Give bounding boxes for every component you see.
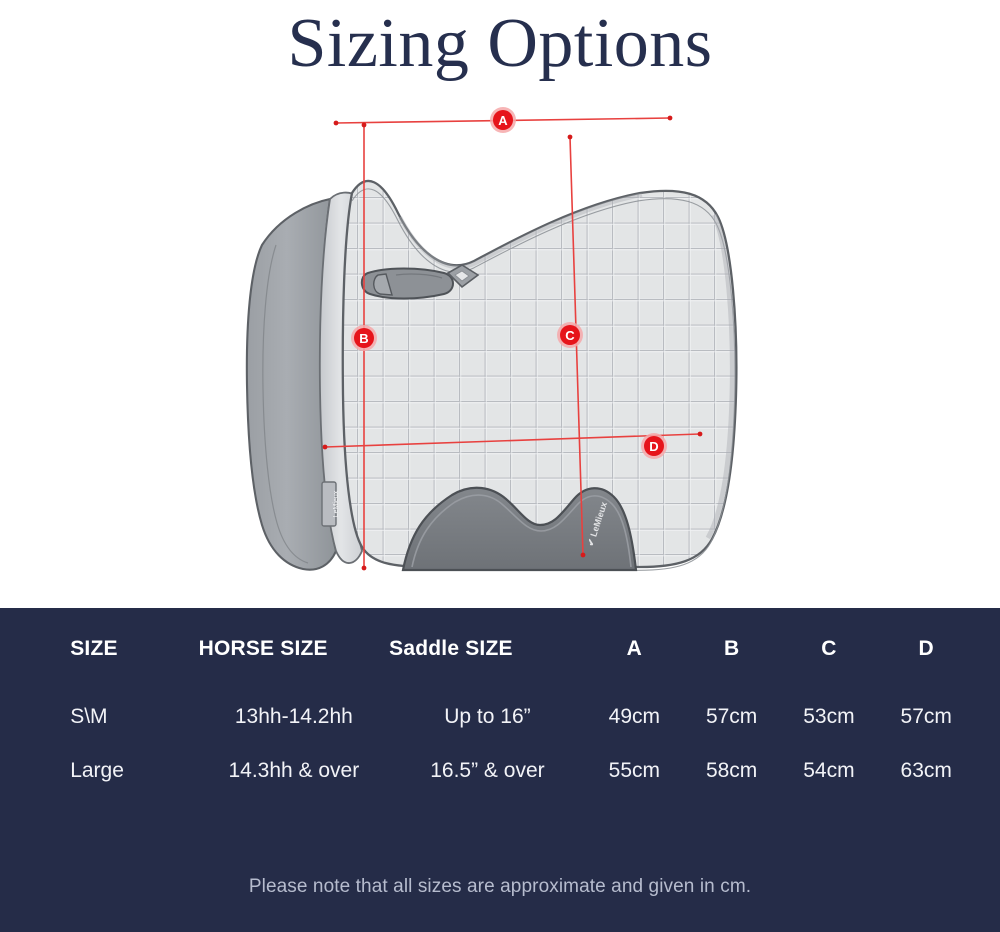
marker-label-a: A [498,113,508,128]
saddle-pad-illustration: LeMieux ✔ LeMieux ✔ LeMieux [0,95,1000,608]
sizing-footnote: Please note that all sizes are approxima… [0,876,1000,898]
spacer-cell-left [0,608,70,690]
sizing-table-head: SIZE HORSE SIZE Saddle SIZE A B C D [0,608,1000,690]
pad-body [343,181,737,570]
spacer-cell-left [0,690,70,744]
marker-label-c: C [565,328,575,343]
page-title: Sizing Options [0,0,1000,92]
spacer-cell-left [0,744,70,798]
cell-d: 57cm [878,690,975,744]
cell-c: 54cm [780,744,877,798]
cell-d: 63cm [878,744,975,798]
cell-b: 57cm [683,690,780,744]
cell-size: S\M [70,690,198,744]
column-header-horse-size: HORSE SIZE [199,608,390,690]
spacer-cell-right [975,690,1000,744]
table-row: Large 14.3hh & over 16.5” & over 55cm 58… [0,744,1000,798]
side-tab-brand-text: LeMieux [333,490,340,517]
column-header-c: C [780,608,877,690]
marker-label-b: B [359,331,368,346]
sizing-table-panel: SIZE HORSE SIZE Saddle SIZE A B C D S\M … [0,608,1000,932]
marker-badge-b: B [351,325,377,351]
cell-a: 49cm [586,690,683,744]
column-header-d: D [878,608,975,690]
marker-badge-a: A [490,107,516,133]
cell-c: 53cm [780,690,877,744]
cell-horse-size: 13hh-14.2hh [199,690,390,744]
saddle-pad-diagram: LeMieux ✔ LeMieux ✔ LeMieux [0,95,1000,608]
marker-badge-c: C [557,322,583,348]
column-header-saddle-size: Saddle SIZE [389,608,586,690]
table-row: S\M 13hh-14.2hh Up to 16” 49cm 57cm 53cm… [0,690,1000,744]
sizing-table-body: S\M 13hh-14.2hh Up to 16” 49cm 57cm 53cm… [0,690,1000,798]
spacer-cell-right [975,744,1000,798]
column-header-size: SIZE [70,608,198,690]
cell-b: 58cm [683,744,780,798]
withers-strap-tab [362,269,453,299]
cell-a: 55cm [586,744,683,798]
column-header-b: B [683,608,780,690]
column-header-a: A [586,608,683,690]
table-header-row: SIZE HORSE SIZE Saddle SIZE A B C D [0,608,1000,690]
cell-saddle-size: Up to 16” [389,690,586,744]
marker-label-d: D [649,439,658,454]
marker-badge-d: D [641,433,667,459]
sizing-options-page: Sizing Options [0,0,1000,932]
title-section: Sizing Options [0,0,1000,95]
cell-size: Large [70,744,198,798]
cell-saddle-size: 16.5” & over [389,744,586,798]
cell-horse-size: 14.3hh & over [199,744,390,798]
spacer-cell-right [975,608,1000,690]
sizing-table: SIZE HORSE SIZE Saddle SIZE A B C D S\M … [0,608,1000,798]
